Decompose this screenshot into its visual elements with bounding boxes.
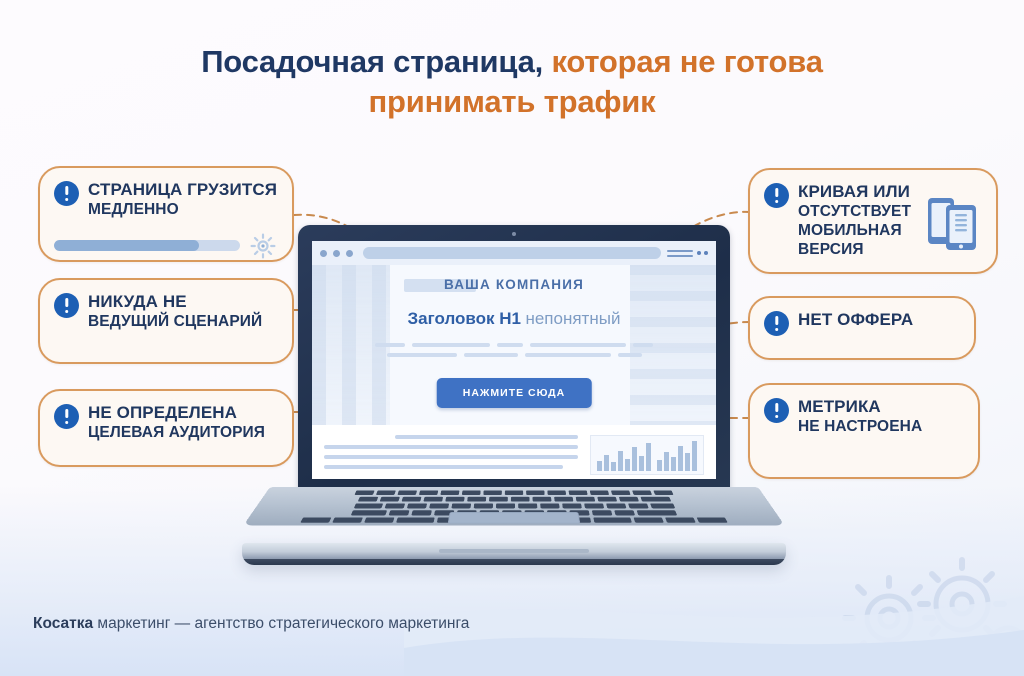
callout-label: Нет оффера [798,310,913,331]
traffic-light-dot [333,250,340,257]
keyboard-row [286,503,742,508]
cta-button[interactable]: НАЖМИТЕ СЮДА [437,378,592,408]
infographic-root: Посадочная страница, которая не готова п… [0,0,1024,676]
placeholder-text-block [372,343,656,363]
traffic-light-dot [320,250,327,257]
callout-label: Страница грузится медленно [88,180,277,220]
exclamation-circle-icon [764,183,789,208]
title-part-accent: которая не готова [551,44,822,79]
callout-header: Метрика не настроена [764,397,962,437]
laptop-lid: ВАША КОМПАНИЯ Заголовок H1 непонятный [298,225,730,493]
chart-thumbnail [590,435,704,475]
placeholder-text-line [372,343,656,347]
lower-text-lines [324,435,578,479]
headline-strong: Заголовок H1 [408,309,521,328]
mobile-devices-icon [926,192,982,254]
laptop-base-front [242,543,786,565]
title-line-1: Посадочная страница, которая не готова [0,42,1024,82]
progress-bar-track [54,240,240,251]
headline-weak: непонятный [525,309,620,328]
keyboard-row [290,497,738,502]
title-line-2: принимать трафик [0,82,1024,122]
callout-header: Нет оффера [764,310,958,336]
browser-toolbar [667,250,708,257]
page-headline: Заголовок H1 непонятный [312,309,716,329]
trackpad[interactable] [448,512,580,523]
callout-label: Кривая или отсутствует мобильная версия [798,182,911,259]
page-lower-section [312,425,716,479]
exclamation-circle-icon [54,181,79,206]
callout-header: Страница грузится медленно [54,180,276,220]
landing-page-content: ВАША КОМПАНИЯ Заголовок H1 непонятный [312,265,716,479]
footer-credit: Косатка маркетинг — агентство стратегиче… [33,615,469,633]
brand-name: Косатка [33,615,93,632]
laptop-keyboard-deck [243,487,785,525]
callout-label: Метрика не настроена [798,397,922,437]
address-bar[interactable] [363,247,661,259]
keyboard-row [294,490,734,495]
company-name: ВАША КОМПАНИЯ [312,277,716,292]
gear-watermark-icon [794,556,1024,676]
laptop-screen: ВАША КОМПАНИЯ Заголовок H1 непонятный [312,241,716,479]
more-options-icon[interactable] [697,251,708,255]
progress-bar-fill [54,240,199,251]
base-notch [439,549,589,553]
exclamation-circle-icon [54,293,79,318]
traffic-light-dot [346,250,353,257]
menu-lines-icon[interactable] [667,250,693,257]
browser-chrome [312,241,716,265]
webcam-icon [512,232,516,236]
footer-tagline: маркетинг — агентство стратегического ма… [93,615,469,632]
page-title: Посадочная страница, которая не готова п… [0,42,1024,121]
title-part-dark: Посадочная страница, [201,44,543,79]
laptop-illustration: ВАША КОМПАНИЯ Заголовок H1 непонятный [236,225,792,585]
placeholder-text-line [372,353,656,357]
exclamation-circle-icon [54,404,79,429]
